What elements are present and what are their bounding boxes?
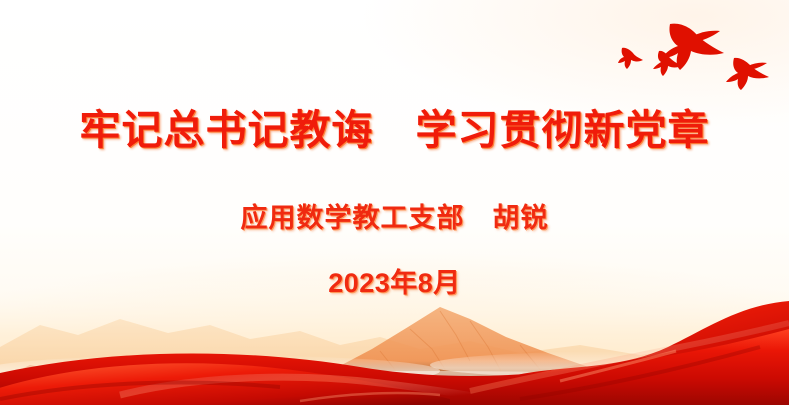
presentation-title-slide: 牢记总书记教诲 学习贯彻新党章 应用数学教工支部 胡锐 2023年8月: [0, 0, 789, 405]
date-label: 2023年8月: [0, 261, 789, 300]
subtitle-department-presenter: 应用数学教工支部 胡锐: [0, 196, 789, 235]
page-title: 牢记总书记教诲 学习贯彻新党章: [0, 107, 789, 154]
red-silk-ribbon: [0, 295, 789, 405]
flying-doves-icon: [612, 8, 772, 90]
